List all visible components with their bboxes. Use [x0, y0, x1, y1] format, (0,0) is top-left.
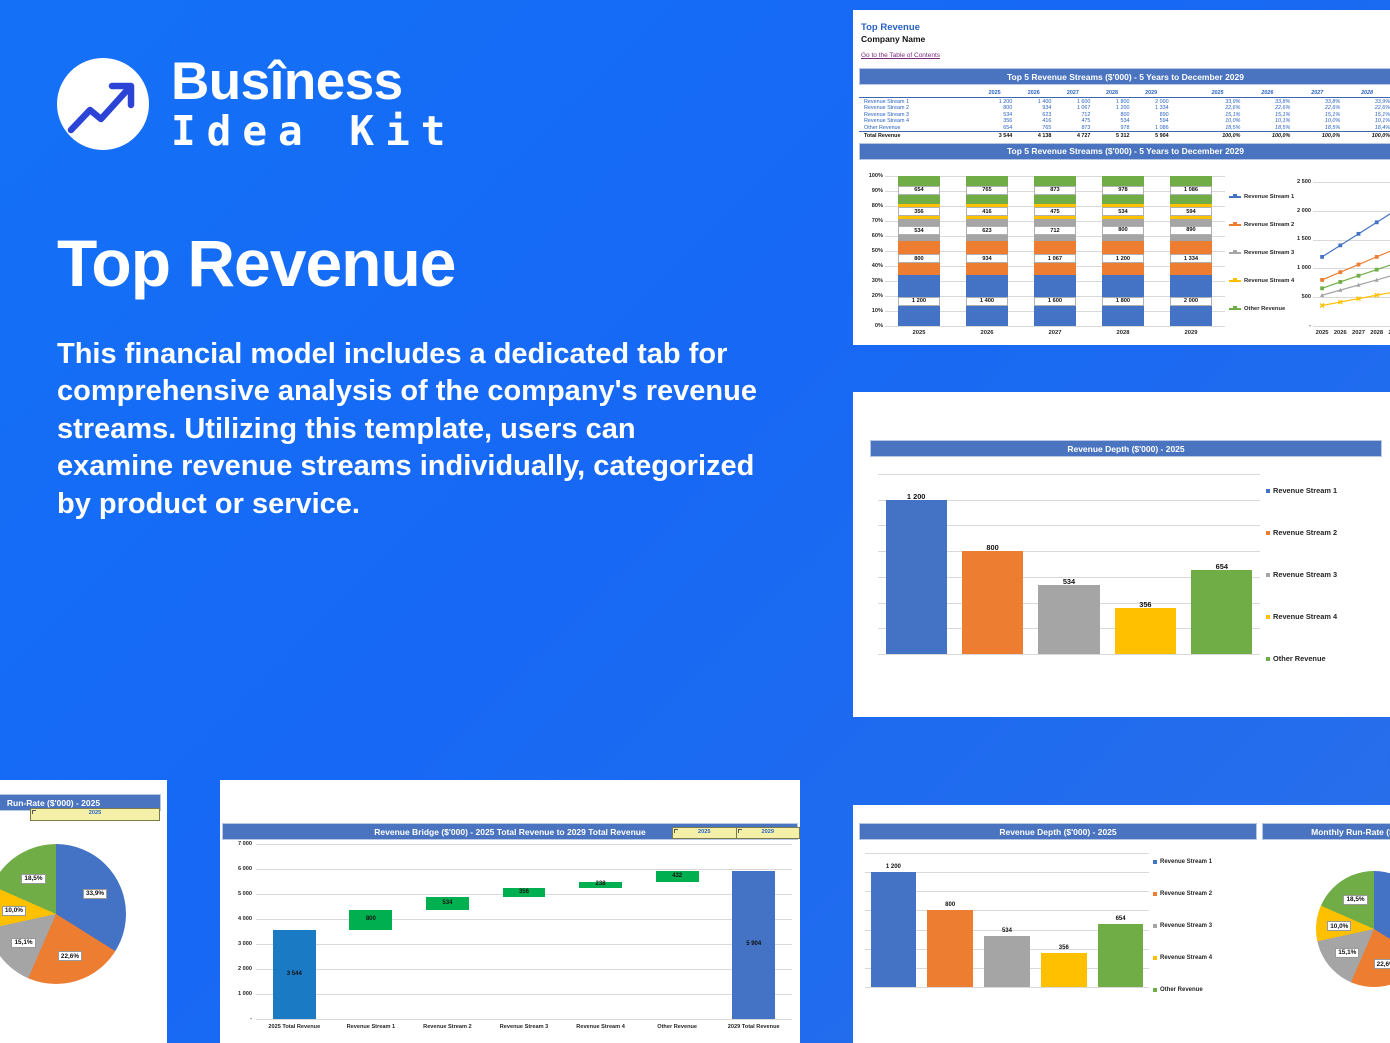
- legend-label: Revenue Stream 3: [1160, 923, 1212, 929]
- legend-line-swatch: [1229, 196, 1241, 198]
- table-row-label: Other Revenue: [859, 125, 975, 132]
- spreadsheet-panel-top: Top Revenue Company Name Go to the Table…: [853, 10, 1390, 345]
- table-pct-cell: 15,1%: [1342, 111, 1390, 118]
- legend-item: Revenue Stream 4: [1229, 278, 1294, 284]
- table-row: Revenue Stream 28009341 0671 2001 33422,…: [859, 105, 1390, 112]
- table-of-contents-link[interactable]: Go to the Table of Contents: [861, 52, 940, 59]
- revenue-depth-panel: Revenue Depth ($'000) - 2025 1 200800534…: [853, 392, 1390, 717]
- x-axis-tick: 2025: [1313, 330, 1331, 336]
- bar-value-label: 654: [1191, 562, 1252, 571]
- legend-item: Revenue Stream 3: [1229, 250, 1294, 256]
- legend-marker: [1233, 278, 1237, 282]
- legend-label: Revenue Stream 2: [1273, 528, 1337, 537]
- sheet-title: Top Revenue: [861, 22, 1390, 33]
- gridline: [256, 969, 792, 970]
- x-axis-tick: 2029: [1386, 330, 1390, 336]
- legend-item: Revenue Stream 4: [1153, 955, 1212, 961]
- legend-label: Revenue Stream 4: [1160, 955, 1212, 961]
- legend-item: Revenue Stream 1: [1266, 486, 1337, 495]
- legend-swatch: [1153, 892, 1157, 896]
- x-axis-tick: 2029: [1157, 330, 1225, 336]
- table-pct-cell: 10,1%: [1342, 118, 1390, 125]
- table-pct-cell: 18,5%: [1292, 125, 1342, 132]
- y-axis-tick: 6 000: [224, 866, 252, 872]
- bar-value-label: 712: [1034, 226, 1076, 235]
- gridline: [256, 919, 792, 920]
- column-bar: [886, 500, 947, 654]
- y-axis-tick: 0%: [861, 323, 883, 329]
- column-bar: [1038, 585, 1099, 654]
- table-cell: 534: [1092, 118, 1131, 125]
- legend-item: Revenue Stream 4: [1266, 612, 1337, 621]
- chart-band-title: Top 5 Revenue Streams ($'000) - 5 Years …: [859, 143, 1390, 160]
- table-pct-year-header: 2027: [1292, 90, 1342, 98]
- gridline: [256, 844, 792, 845]
- pie-slice-label: 15,1%: [1335, 948, 1359, 958]
- legend-line-swatch: [1229, 280, 1241, 282]
- pie-slice-label: 18,5%: [1343, 895, 1367, 905]
- revenue-depth-chart-br: 1 200800534356654Revenue Stream 1Revenue…: [859, 837, 1257, 1017]
- table-cell: 416: [1014, 118, 1053, 125]
- bar-value-label: 534: [898, 226, 940, 235]
- gridline: [878, 474, 1260, 475]
- bar-value-label: 1 067: [1034, 254, 1076, 263]
- table-pct-cell: 15,1%: [1242, 111, 1292, 118]
- bar-value-label: 654: [898, 186, 940, 195]
- column-bar: [927, 910, 972, 987]
- column-bar: [871, 872, 916, 987]
- table-cell: 1 200: [1092, 105, 1131, 112]
- table-cell: 890: [1132, 111, 1171, 118]
- gridline: [878, 654, 1260, 655]
- table-row-label: Revenue Stream 2: [859, 105, 975, 112]
- table-cell: 1 600: [1053, 98, 1092, 105]
- table-year-header: 2025: [975, 90, 1014, 98]
- legend-label: Revenue Stream 2: [1160, 891, 1212, 897]
- table-pct-cell: 18,4%: [1342, 125, 1390, 132]
- legend-label: Revenue Stream 1: [1160, 859, 1212, 865]
- run-rate-pie-left: 33,9%22,6%15,1%10,0%18,5%: [0, 828, 167, 1038]
- gridline: [256, 944, 792, 945]
- y-axis-tick: 80%: [861, 203, 883, 209]
- revenue-table: 202520262027202820292025202620272028Reve…: [859, 90, 1390, 139]
- table-pct-cell: 18,5%: [1242, 125, 1292, 132]
- table-year-header: 2029: [1132, 90, 1171, 98]
- bar-value-label: 1 200: [898, 297, 940, 306]
- table-pct-cell: 22,6%: [1292, 105, 1342, 112]
- pie-slice-label: 22,6%: [58, 951, 82, 961]
- pie-slice-label: 10,0%: [1327, 921, 1351, 931]
- table-cell: 800: [1092, 111, 1131, 118]
- y-axis-tick: 60%: [861, 233, 883, 239]
- legend-label: Revenue Stream 3: [1273, 570, 1337, 579]
- table-pct-cell: 22,6%: [1193, 105, 1243, 112]
- logo-line-2: Idea Kit: [171, 111, 456, 152]
- table-cell: 534: [975, 111, 1014, 118]
- table-cell: 594: [1132, 118, 1171, 125]
- bar-value-label: 800: [898, 254, 940, 263]
- legend-label: Revenue Stream 2: [1244, 222, 1294, 228]
- bar-value-label: 416: [966, 207, 1008, 216]
- legend-label: Other Revenue: [1244, 306, 1285, 312]
- legend-item: Other Revenue: [1229, 306, 1285, 312]
- legend-label: Other Revenue: [1160, 987, 1203, 993]
- legend-swatch: [1266, 531, 1270, 535]
- bar-value-label: 1 086: [1170, 186, 1212, 195]
- legend-label: Other Revenue: [1273, 654, 1326, 663]
- monthly-run-rate-panel-left: Run-Rate ($'000) - 2025 2025 33,9%22,6%1…: [0, 780, 167, 1043]
- table-cell: 623: [1014, 111, 1053, 118]
- x-axis-tick: Revenue Stream 4: [562, 1024, 639, 1030]
- table-cell: 800: [975, 105, 1014, 112]
- bar-value-label: 800: [962, 543, 1023, 552]
- legend-swatch: [1153, 988, 1157, 992]
- legend-marker: [1233, 194, 1237, 198]
- legend-label: Revenue Stream 3: [1244, 250, 1294, 256]
- column-bar: [984, 936, 1029, 987]
- table-pct-cell: 10,0%: [1292, 118, 1342, 125]
- legend-marker: [1233, 306, 1237, 310]
- legend-line-swatch: [1229, 252, 1241, 254]
- bar-value-label: 1 600: [1034, 297, 1076, 306]
- bar-value-label: 356: [1041, 945, 1086, 951]
- legend-item: Revenue Stream 3: [1153, 923, 1212, 929]
- table-cell: 1 800: [1092, 98, 1131, 105]
- gridline: [256, 869, 792, 870]
- table-row: Revenue Stream 353462371280089015,1%15,1…: [859, 111, 1390, 118]
- legend-item: Other Revenue: [1153, 987, 1203, 993]
- table-cell: 1 400: [1014, 98, 1053, 105]
- legend-swatch: [1153, 956, 1157, 960]
- revenue-bridge-chart: -1 0002 0003 0004 0005 0006 0007 0003 54…: [222, 838, 798, 1043]
- table-cell: 654: [975, 125, 1014, 132]
- table-pct-cell: 15,1%: [1292, 111, 1342, 118]
- legend-item: Revenue Stream 3: [1266, 570, 1337, 579]
- x-axis-tick: Revenue Stream 1: [333, 1024, 410, 1030]
- bar-value-label: 1 800: [1102, 297, 1144, 306]
- table-pct-year-header: 2026: [1242, 90, 1292, 98]
- logo-line-1: Busîness: [171, 55, 456, 108]
- legend-item: Revenue Stream 2: [1229, 222, 1294, 228]
- legend-label: Revenue Stream 4: [1273, 612, 1337, 621]
- table-pct-cell: 33,8%: [1242, 98, 1292, 105]
- gridline: [885, 326, 1225, 327]
- table-cell: 1 086: [1132, 125, 1171, 132]
- x-axis-tick: 2026: [1331, 330, 1349, 336]
- column-bar: [1041, 953, 1086, 987]
- table-row-label: Revenue Stream 1: [859, 98, 975, 105]
- bar-value-label: 594: [1170, 207, 1212, 216]
- revenue-depth-chart-mid: 1 200800534356654Revenue Stream 1Revenue…: [870, 454, 1382, 694]
- legend-swatch: [1266, 615, 1270, 619]
- bar-value-label: 534: [984, 928, 1029, 934]
- table-cell: 356: [975, 118, 1014, 125]
- y-axis-tick: 1 000: [224, 991, 252, 997]
- page-title: Top Revenue: [57, 225, 817, 301]
- legend-item: Revenue Stream 1: [1153, 859, 1212, 865]
- table-row-label: Revenue Stream 3: [859, 111, 975, 118]
- table-cell: 934: [1014, 105, 1053, 112]
- legend-swatch: [1153, 860, 1157, 864]
- y-axis-tick: 90%: [861, 188, 883, 194]
- bar-value-label: 1 200: [871, 864, 916, 870]
- table-cell: 1 334: [1132, 105, 1171, 112]
- y-axis-tick: 10%: [861, 308, 883, 314]
- x-axis-tick: 2025 Total Revenue: [256, 1024, 333, 1030]
- column-bar: [962, 551, 1023, 654]
- growth-arrow-icon: [57, 58, 149, 150]
- legend-line-swatch: [1229, 308, 1241, 310]
- table-pct-cell: 10,1%: [1242, 118, 1292, 125]
- y-axis-tick: 20%: [861, 293, 883, 299]
- legend-label: Revenue Stream 1: [1273, 486, 1337, 495]
- trend-line-chart: -5001 0001 5002 0002 5002025202620272028…: [1229, 172, 1390, 344]
- revenue-depth-runrate-panel: Revenue Depth ($'000) - 2025 Monthly Run…: [853, 805, 1390, 1043]
- x-axis-tick: 2028: [1368, 330, 1386, 336]
- y-axis-tick: 2 000: [224, 966, 252, 972]
- bar-value-label: 238: [579, 881, 622, 887]
- y-axis-tick: 7 000: [224, 841, 252, 847]
- sheet-company: Company Name: [861, 34, 1390, 44]
- gridline: [865, 987, 1149, 988]
- table-cell: 2 000: [1132, 98, 1171, 105]
- run-rate-pie-br: 33,9%22,6%15,1%10,0%18,5%: [1262, 837, 1390, 1017]
- x-axis-tick: Revenue Stream 2: [409, 1024, 486, 1030]
- branding-block: Busîness Idea Kit Top Revenue This finan…: [57, 55, 817, 523]
- y-axis-tick: 100%: [861, 173, 883, 179]
- table-band-title: Top 5 Revenue Streams ($'000) - 5 Years …: [859, 68, 1390, 85]
- page-description: This financial model includes a dedicate…: [57, 336, 757, 523]
- table-pct-cell: 10,0%: [1193, 118, 1243, 125]
- x-axis-tick: 2028: [1089, 330, 1157, 336]
- bar-value-label: 1 400: [966, 297, 1008, 306]
- gridline: [256, 994, 792, 995]
- slicer-year-2029[interactable]: 2029: [737, 828, 800, 838]
- table-pct-cell: 22,6%: [1342, 105, 1390, 112]
- bar-value-label: 534: [1102, 207, 1144, 216]
- table-total-row: Total Revenue3 5444 1384 7275 3125 90410…: [859, 132, 1390, 139]
- legend-item: Revenue Stream 2: [1153, 891, 1212, 897]
- pie-slice-label: 18,5%: [21, 874, 45, 884]
- table-row: Revenue Stream 11 2001 4001 6001 8002 00…: [859, 98, 1390, 105]
- table-cell: 712: [1053, 111, 1092, 118]
- y-axis-tick: 4 000: [224, 916, 252, 922]
- y-axis-tick: 70%: [861, 218, 883, 224]
- legend-item: Other Revenue: [1266, 654, 1326, 663]
- column-bar: [1115, 608, 1176, 654]
- table-row: Other Revenue6547658739781 08618,5%18,5%…: [859, 125, 1390, 132]
- legend-swatch: [1266, 657, 1270, 661]
- legend-swatch: [1153, 924, 1157, 928]
- gridline: [865, 853, 1149, 854]
- legend-item: Revenue Stream 2: [1266, 528, 1337, 537]
- table-pct-cell: 18,5%: [1193, 125, 1243, 132]
- y-axis-tick: -: [224, 1016, 252, 1022]
- table-pct-cell: 33,8%: [1292, 98, 1342, 105]
- revenue-bridge-panel: Revenue Bridge ($'000) - 2025 Total Reve…: [220, 780, 800, 1043]
- bar-value-label: 432: [656, 873, 699, 879]
- bar-value-label: 800: [349, 916, 392, 922]
- pie-slice-label: 22,6%: [1374, 959, 1390, 969]
- bar-value-label: 356: [503, 889, 546, 895]
- table-pct-cell: 33,9%: [1193, 98, 1243, 105]
- pie-slice-label: 33,9%: [83, 889, 107, 899]
- bar-value-label: 356: [1115, 600, 1176, 609]
- table-row-label: Revenue Stream 4: [859, 118, 975, 125]
- x-axis-tick: 2029 Total Revenue: [715, 1024, 792, 1030]
- table-year-header: 2027: [1053, 90, 1092, 98]
- legend-line-swatch: [1229, 224, 1241, 226]
- x-axis-tick: Revenue Stream 3: [486, 1024, 563, 1030]
- bar-value-label: 1 200: [1102, 254, 1144, 263]
- x-axis-tick: 2027: [1021, 330, 1089, 336]
- table-pct-cell: 22,6%: [1242, 105, 1292, 112]
- bar-value-label: 978: [1102, 186, 1144, 195]
- bar-value-label: 623: [966, 226, 1008, 235]
- y-axis-tick: 5 000: [224, 891, 252, 897]
- legend-label: Revenue Stream 1: [1244, 194, 1294, 200]
- pie-slice-label: 10,0%: [2, 906, 26, 916]
- table-cell: 873: [1053, 125, 1092, 132]
- bar-value-label: 5 904: [732, 941, 775, 947]
- table-row: Revenue Stream 435641647553459410,0%10,1…: [859, 118, 1390, 125]
- bar-value-label: 800: [1102, 226, 1144, 235]
- x-axis-tick: 2025: [885, 330, 953, 336]
- year-slicer-left[interactable]: 2025: [30, 808, 160, 821]
- column-bar: [1098, 924, 1143, 987]
- bar-value-label: 765: [966, 186, 1008, 195]
- table-pct-year-header: 2028: [1342, 90, 1390, 98]
- y-axis-tick: 30%: [861, 278, 883, 284]
- bar-value-label: 1 200: [886, 492, 947, 501]
- legend-marker: [1233, 250, 1237, 254]
- x-axis-tick: 2027: [1349, 330, 1367, 336]
- legend-label: Revenue Stream 4: [1244, 278, 1294, 284]
- pie-slice-label: 15,1%: [11, 938, 35, 948]
- bar-value-label: 356: [898, 207, 940, 216]
- y-axis-tick: 50%: [861, 248, 883, 254]
- table-pct-cell: 15,1%: [1193, 111, 1243, 118]
- slicer-year-2025[interactable]: 2025: [673, 828, 737, 838]
- bar-value-label: 2 000: [1170, 297, 1212, 306]
- slicer-year-2025[interactable]: 2025: [31, 809, 159, 820]
- table-cell: 1 067: [1053, 105, 1092, 112]
- x-axis-tick: Other Revenue: [639, 1024, 716, 1030]
- legend-marker: [1233, 222, 1237, 226]
- bar-value-label: 475: [1034, 207, 1076, 216]
- logo: Busîness Idea Kit: [57, 55, 817, 152]
- y-axis-tick: 40%: [861, 263, 883, 269]
- table-cell: 978: [1092, 125, 1131, 132]
- bar-value-label: 800: [927, 902, 972, 908]
- gridline: [256, 1019, 792, 1020]
- bar-value-label: 534: [1038, 577, 1099, 586]
- legend-swatch: [1266, 573, 1270, 577]
- table-year-header: 2026: [1014, 90, 1053, 98]
- table-cell: 475: [1053, 118, 1092, 125]
- table-cell: 1 200: [975, 98, 1014, 105]
- bar-value-label: 1 334: [1170, 254, 1212, 263]
- y-axis-tick: 3 000: [224, 941, 252, 947]
- legend-swatch: [1266, 489, 1270, 493]
- bar-value-label: 534: [426, 900, 469, 906]
- bar-value-label: 890: [1170, 226, 1212, 235]
- table-cell: 765: [1014, 125, 1053, 132]
- legend-item: Revenue Stream 1: [1229, 194, 1294, 200]
- bar-value-label: 3 544: [273, 971, 316, 977]
- table-year-header: 2028: [1092, 90, 1131, 98]
- table-pct-year-header: 2025: [1193, 90, 1243, 98]
- column-bar: [1191, 570, 1252, 654]
- stacked-bar-chart: 0%10%20%30%40%50%60%70%80%90%100%1 20080…: [859, 172, 1229, 344]
- bar-value-label: 873: [1034, 186, 1076, 195]
- table-pct-cell: 33,9%: [1342, 98, 1390, 105]
- x-axis-tick: 2026: [953, 330, 1021, 336]
- bar-value-label: 654: [1098, 916, 1143, 922]
- bar-value-label: 934: [966, 254, 1008, 263]
